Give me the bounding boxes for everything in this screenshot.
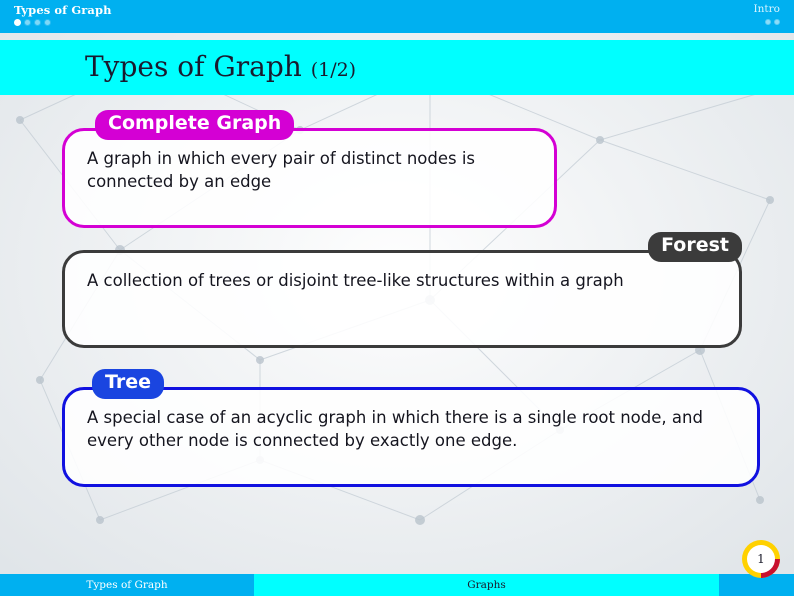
progress-dot-3[interactable] — [34, 19, 41, 26]
top-bar-section-label: Intro — [754, 3, 780, 15]
section-progress-dots[interactable] — [765, 19, 780, 25]
definition-text-forest: A collection of trees or disjoint tree-l… — [65, 253, 739, 304]
page-title-counter: (1/2) — [311, 59, 356, 81]
progress-dot-1[interactable] — [14, 19, 21, 26]
slide: Types of Graph Intro Types of Graph (1/2… — [0, 0, 794, 596]
definition-tag-tree: Tree — [92, 369, 164, 399]
definition-box-complete-graph: A graph in which every pair of distinct … — [62, 128, 557, 228]
page-number: 1 — [747, 545, 775, 573]
definition-box-tree: A special case of an acyclic graph in wh… — [62, 387, 760, 487]
definition-text-tree: A special case of an acyclic graph in wh… — [65, 390, 757, 465]
progress-dot-2[interactable] — [24, 19, 31, 26]
top-bar-title: Types of Graph — [14, 3, 112, 17]
progress-dot-4[interactable] — [44, 19, 51, 26]
footer-title-label: Graphs — [254, 574, 719, 596]
footer-section-label: Types of Graph — [0, 574, 254, 596]
page-title: Types of Graph (1/2) — [85, 50, 356, 83]
page-title-main: Types of Graph — [85, 50, 302, 83]
section-dot-1[interactable] — [765, 19, 771, 25]
definition-tag-forest: Forest — [648, 232, 742, 262]
slide-progress-dots[interactable] — [14, 19, 51, 26]
definition-tag-complete-graph: Complete Graph — [95, 110, 294, 140]
bottom-status-bar: Types of Graph Graphs — [0, 574, 794, 596]
page-number-badge: 1 — [742, 540, 780, 578]
top-navigation-bar: Types of Graph Intro — [0, 0, 794, 33]
definition-box-forest: A collection of trees or disjoint tree-l… — [62, 250, 742, 348]
content-area: A graph in which every pair of distinct … — [0, 95, 794, 560]
definition-text-complete-graph: A graph in which every pair of distinct … — [65, 131, 554, 206]
section-dot-2[interactable] — [774, 19, 780, 25]
